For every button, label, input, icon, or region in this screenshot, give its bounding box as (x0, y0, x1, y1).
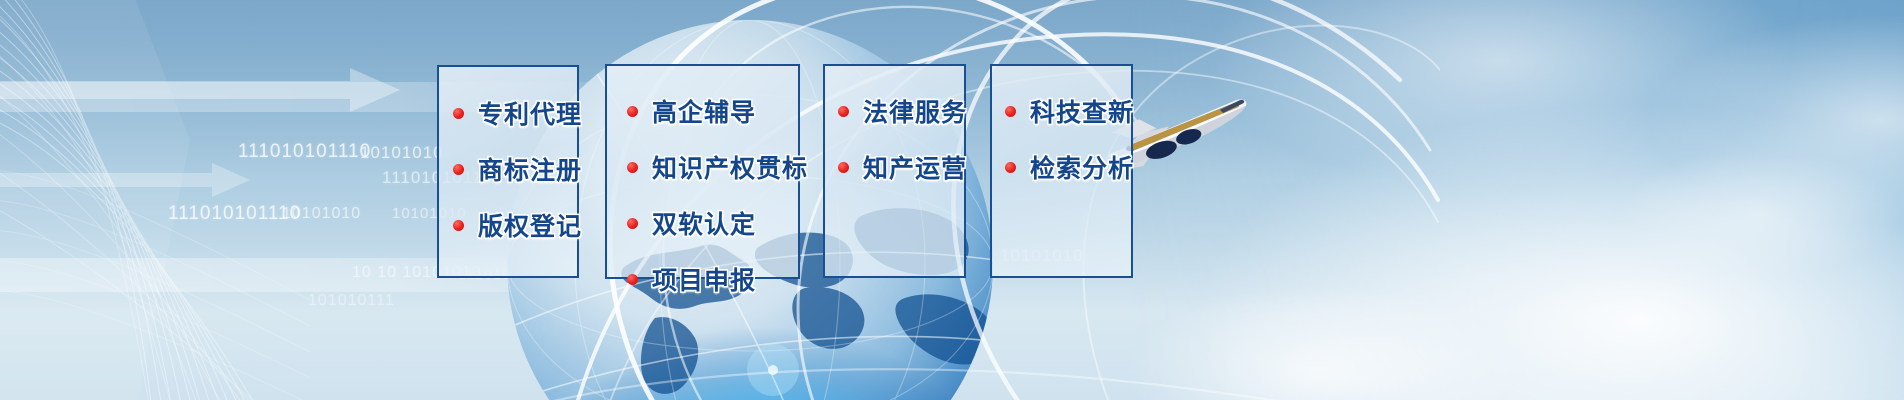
bullet-dot-icon (838, 162, 849, 173)
service-item[interactable]: 法律服务 (838, 93, 967, 129)
binary-text: 10101010 (360, 143, 444, 163)
service-item[interactable]: 高企辅导 (627, 93, 756, 129)
service-label: 版权登记 (478, 207, 582, 243)
binary-text: 111010101110 (238, 141, 371, 163)
hero-banner: 111010101110 10101010 111010101110 11101… (0, 0, 1904, 400)
services-panel-1[interactable]: 专利代理 商标注册 版权登记 (437, 65, 579, 278)
wire-mesh-decoration (0, 0, 310, 400)
service-item[interactable]: 项目申报 (627, 261, 756, 297)
service-item[interactable]: 专利代理 (453, 95, 582, 131)
bullet-dot-icon (627, 106, 638, 117)
bullet-dot-icon (627, 274, 638, 285)
binary-text: 10101010 (282, 205, 361, 223)
service-label: 项目申报 (652, 261, 756, 297)
service-item[interactable]: 版权登记 (453, 207, 582, 243)
bullet-dot-icon (838, 106, 849, 117)
service-label: 知识产权贯标 (652, 149, 808, 185)
service-item[interactable]: 检索分析 (1005, 149, 1134, 185)
services-panel-4[interactable]: 科技查新 检索分析 (990, 64, 1133, 278)
service-label: 商标注册 (478, 151, 582, 187)
service-label: 科技查新 (1030, 93, 1134, 129)
arrow-right-icon-small (0, 163, 250, 197)
bullet-dot-icon (453, 108, 464, 119)
binary-text: 101010111 (308, 292, 395, 310)
service-item[interactable]: 知产运营 (838, 149, 967, 185)
sky-gradient (1124, 0, 1904, 400)
service-item[interactable]: 商标注册 (453, 151, 582, 187)
binary-text: 111010101110 (168, 203, 301, 225)
bullet-dot-icon (453, 164, 464, 175)
service-label: 知产运营 (863, 149, 967, 185)
service-item[interactable]: 双软认定 (627, 205, 756, 241)
bullet-dot-icon (627, 218, 638, 229)
service-item[interactable]: 科技查新 (1005, 93, 1134, 129)
binary-text: 10101011 (520, 318, 598, 336)
service-label: 专利代理 (478, 95, 582, 131)
bullet-dot-icon (453, 220, 464, 231)
service-item[interactable]: 知识产权贯标 (627, 149, 808, 185)
service-label: 法律服务 (863, 93, 967, 129)
bullet-dot-icon (1005, 162, 1016, 173)
service-label: 双软认定 (652, 205, 756, 241)
service-label: 高企辅导 (652, 93, 756, 129)
bullet-dot-icon (627, 162, 638, 173)
services-panel-3[interactable]: 法律服务 知产运营 (823, 64, 966, 278)
service-label: 检索分析 (1030, 149, 1134, 185)
services-panel-2[interactable]: 高企辅导 知识产权贯标 双软认定 项目申报 (605, 64, 800, 279)
arrow-right-icon-large (0, 68, 400, 112)
bullet-dot-icon (1005, 106, 1016, 117)
